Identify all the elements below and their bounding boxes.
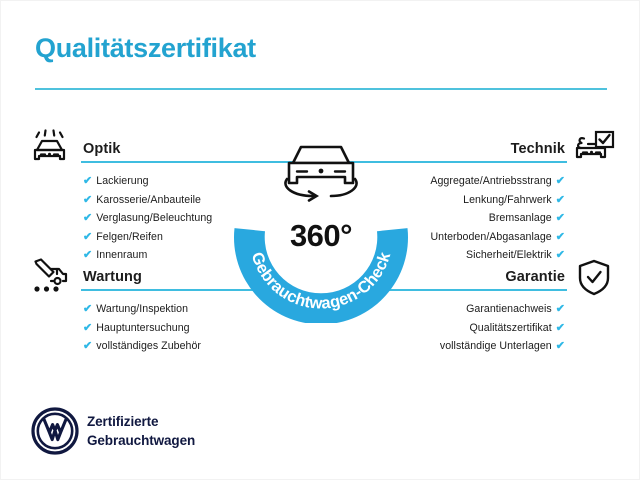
section-title-optik: Optik (83, 141, 121, 157)
footer-line-2: Gebrauchtwagen (87, 432, 195, 451)
list-item-label: vollständiges Zubehör (96, 340, 201, 352)
badge-center-label: 360° (229, 218, 413, 254)
pen-car-service-icon (27, 257, 73, 297)
car-front-shine-icon (27, 129, 73, 169)
check-icon: ✔ (556, 340, 565, 352)
list-item: ✔vollständiges Zubehör (23, 337, 293, 356)
list-item-label: Verglasung/Beleuchtung (96, 212, 212, 224)
list-item-label: Karosserie/Anbauteile (96, 194, 201, 206)
car-checkbox-icon (571, 129, 617, 169)
badge-360-gebrauchtwagen-check: Gebrauchtwagen-Check (229, 119, 413, 323)
check-icon: ✔ (556, 303, 565, 315)
check-icon: ✔ (556, 194, 565, 206)
check-icon: ✔ (83, 212, 92, 224)
check-icon: ✔ (83, 322, 92, 334)
list-item-label: Unterboden/Abgasanlage (430, 231, 551, 243)
list-item-label: Wartung/Inspektion (96, 303, 188, 315)
section-title-technik: Technik (511, 141, 565, 157)
check-icon: ✔ (83, 194, 92, 206)
list-item-label: Qualitätszertifikat (470, 322, 552, 334)
check-icon: ✔ (556, 322, 565, 334)
list-item-label: Aggregate/Antriebsstrang (430, 175, 551, 187)
list-item-label: Felgen/Reifen (96, 231, 163, 243)
footer-logo-text: Zertifizierte Gebrauchtwagen (87, 413, 195, 450)
section-title-garantie: Garantie (505, 269, 565, 285)
list-item-label: Garantienachweis (466, 303, 552, 315)
check-icon: ✔ (83, 231, 92, 243)
section-title-wartung: Wartung (83, 269, 142, 285)
certificate-page: Qualitätszertifikat (0, 0, 640, 480)
check-icon: ✔ (556, 212, 565, 224)
vw-logo-icon (31, 407, 79, 455)
list-item-label: Lackierung (96, 175, 148, 187)
list-item: vollständige Unterlagen✔ (349, 337, 619, 356)
list-item-label: Lenkung/Fahrwerk (463, 194, 552, 206)
check-icon: ✔ (556, 231, 565, 243)
shield-check-icon (571, 257, 617, 297)
footer-line-1: Zertifizierte (87, 413, 195, 432)
title-divider (35, 88, 607, 90)
check-icon: ✔ (83, 175, 92, 187)
list-item-label: Bremsanlage (489, 212, 552, 224)
list-item-label: Hauptuntersuchung (96, 322, 189, 334)
check-icon: ✔ (83, 303, 92, 315)
title-block: Qualitätszertifikat (35, 31, 607, 65)
check-icon: ✔ (83, 340, 92, 352)
list-item-label: vollständige Unterlagen (440, 340, 552, 352)
check-icon: ✔ (556, 175, 565, 187)
footer-logo: Zertifizierte Gebrauchtwagen (31, 405, 291, 459)
page-title: Qualitätszertifikat (35, 31, 607, 65)
